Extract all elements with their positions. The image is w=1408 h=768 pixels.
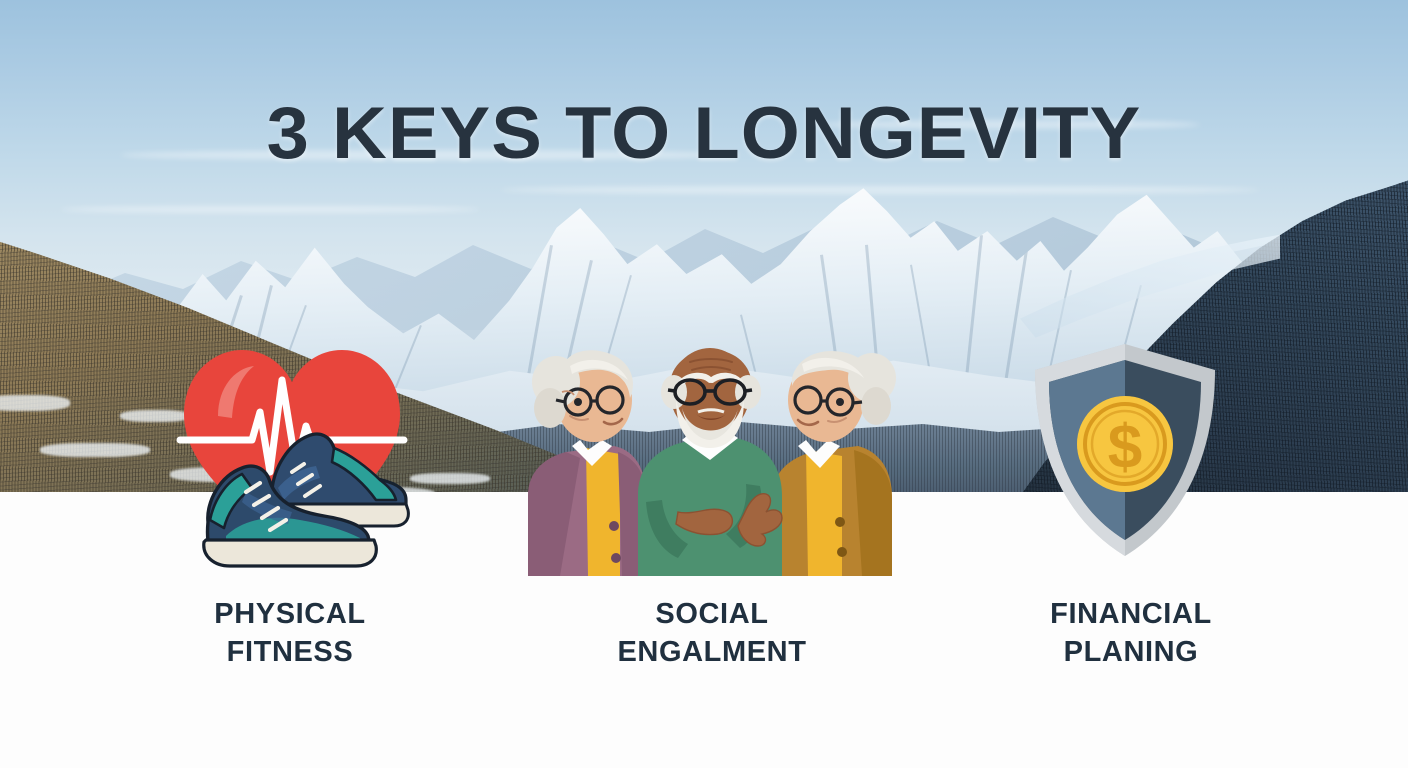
label-line-2: PLANING (931, 633, 1331, 671)
label-line-1: FINANCIAL (931, 595, 1331, 633)
three-elderly-people-talking-illustration (510, 346, 910, 576)
dollar-coin-icon: $ (1077, 396, 1173, 492)
label-physical-fitness: PHYSICAL FITNESS (90, 595, 490, 672)
svg-text:$: $ (1108, 413, 1142, 482)
heart-with-running-shoes-icon (178, 342, 418, 567)
longevity-infographic-poster: 3 KEYS TO LONGEVITY (0, 0, 1408, 768)
page-title: 3 KEYS TO LONGEVITY (0, 92, 1408, 175)
label-line-1: SOCIAL (512, 595, 912, 633)
person-left-woman (528, 350, 646, 576)
label-line-1: PHYSICAL (90, 595, 490, 633)
label-financial-planning: FINANCIAL PLANING (931, 595, 1331, 672)
label-social-engagement: SOCIAL ENGALMENT (512, 595, 912, 672)
shield-with-dollar-coin-icon: $ (1025, 340, 1225, 560)
label-line-2: ENGALMENT (512, 633, 912, 671)
running-shoes-icon (196, 430, 411, 560)
label-line-2: FITNESS (90, 633, 490, 671)
person-center-man (638, 348, 782, 576)
